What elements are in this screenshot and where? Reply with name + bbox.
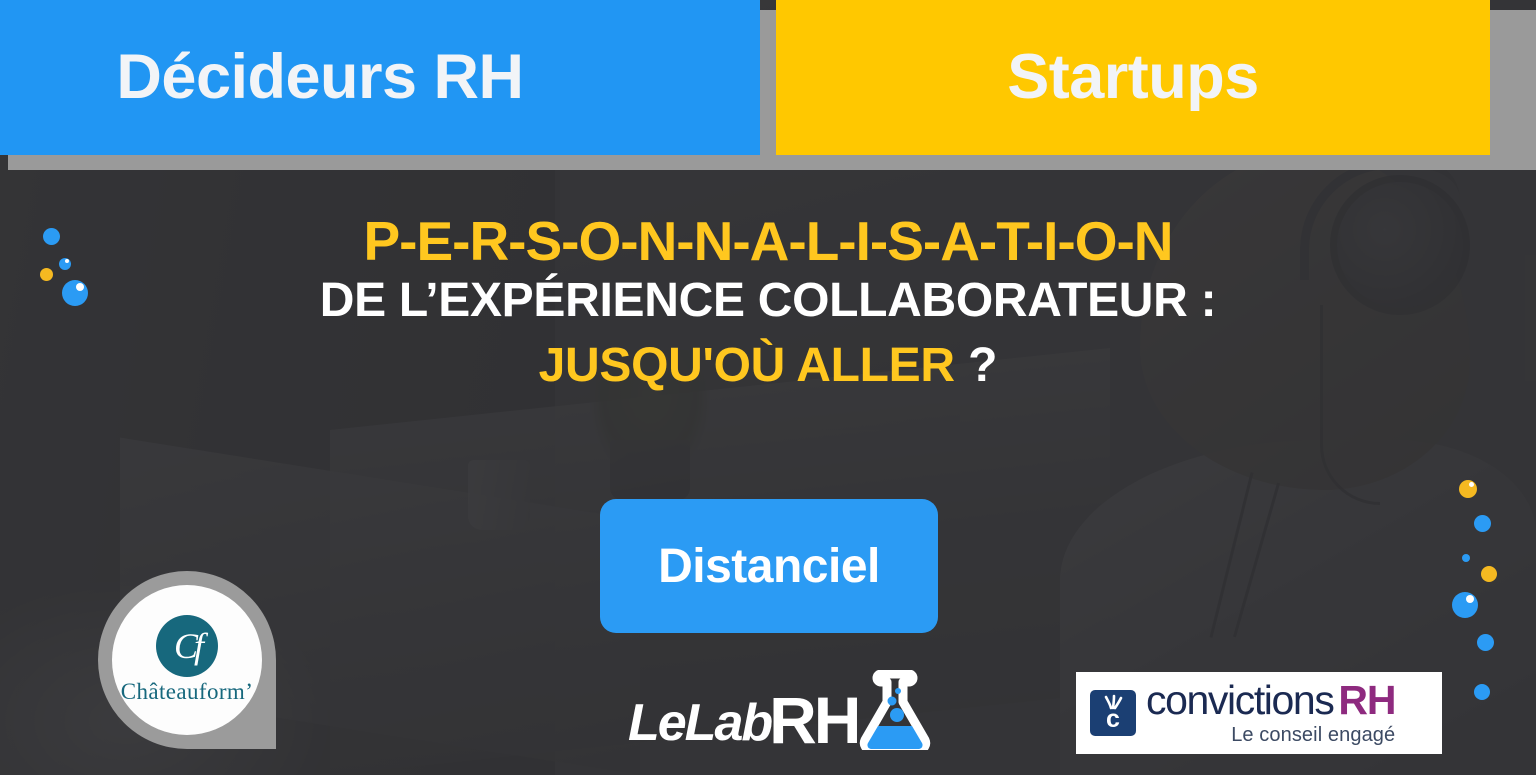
logo-chateauform: Cf Châteauform’ [98, 571, 276, 749]
dot-highlight [76, 283, 84, 291]
lelab-wordmark: LeLab [628, 699, 771, 748]
convictionsrh-textblock: convictions RH Le conseil engagé [1146, 680, 1395, 747]
decor-right-dot [1459, 480, 1477, 498]
headline-question-main: JUSQU'OÙ ALLER [539, 339, 955, 392]
convictionsrh-wordmark: convictions RH [1146, 680, 1395, 721]
headline-block: P-E-R-S-O-N-N-A-L-I-S-A-T-I-O-N DE L’EXP… [0, 212, 1536, 398]
chateauform-wordmark: Châteauform’ [121, 679, 254, 705]
decor-left-dot [40, 268, 53, 281]
decor-left-dot [43, 228, 60, 245]
dot-highlight [1466, 595, 1474, 603]
headline-question-mark: ? [955, 339, 998, 392]
distanciel-button-label: Distanciel [658, 539, 880, 594]
convictionsrh-tagline: Le conseil engagé [1146, 724, 1395, 747]
dot-highlight [65, 259, 69, 263]
chateauform-disc: Cf Châteauform’ [112, 585, 262, 735]
decor-right-dot [1477, 634, 1494, 651]
decor-left-dot [59, 258, 71, 270]
headline-line-experience: DE L’EXPÉRIENCE COLLABORATEUR : [0, 271, 1536, 331]
headline-line-question: JUSQU'OÙ ALLER ? [0, 335, 1536, 397]
headline-line-personnalisation: P-E-R-S-O-N-N-A-L-I-S-A-T-I-O-N [0, 212, 1536, 271]
logo-lelabrh: LeLab RH [628, 676, 858, 748]
audience-banner-bar: Décideurs RH Startups [0, 0, 1536, 178]
decor-right-dot [1481, 566, 1497, 582]
leaf-c-icon-letter: c [1090, 707, 1136, 732]
banner-left-label: Décideurs RH [116, 46, 523, 109]
decor-right-dot [1462, 554, 1470, 562]
decor-right-dot [1474, 515, 1491, 532]
chateauform-monogram-icon: Cf [156, 615, 218, 677]
decor-right-dot [1452, 592, 1478, 618]
banner-decideurs-rh[interactable]: Décideurs RH [0, 0, 760, 155]
logo-convictionsrh: c convictions RH Le conseil engagé [1076, 672, 1442, 754]
dot-highlight [1469, 482, 1474, 487]
flask-icon [856, 670, 934, 750]
lelab-rh-wordmark: RH [769, 692, 858, 748]
banner-startups[interactable]: Startups [776, 0, 1490, 155]
leaf-c-icon: c [1090, 690, 1136, 736]
decor-left-dot [62, 280, 88, 306]
convictions-rh-word: RH [1338, 680, 1395, 721]
banner-right-label: Startups [1007, 46, 1259, 109]
convictions-word: convictions [1146, 680, 1333, 721]
decor-right-dot [1474, 684, 1490, 700]
distanciel-button[interactable]: Distanciel [600, 499, 938, 633]
